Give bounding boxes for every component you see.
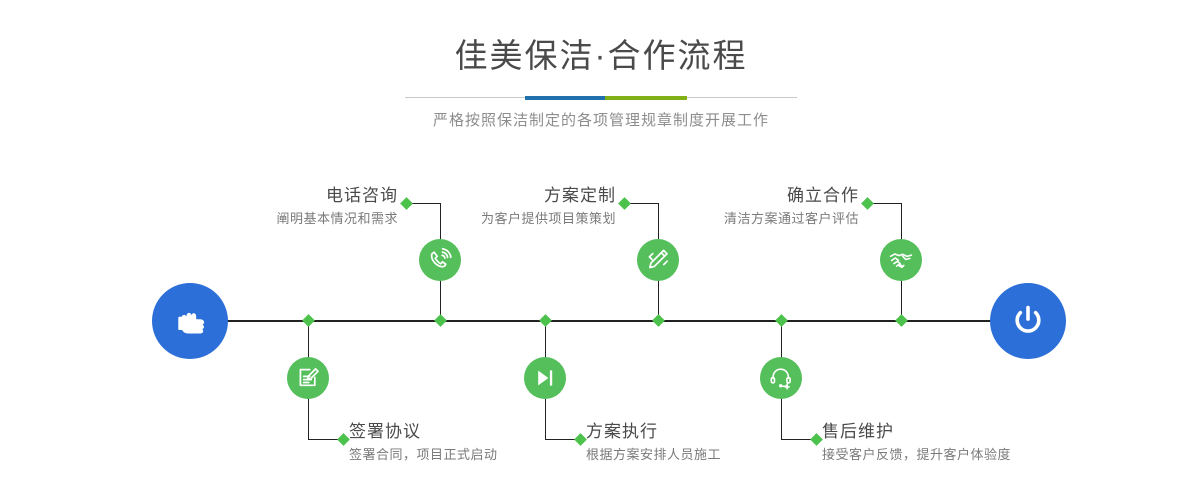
flow-diagram-page: 佳美保洁·合作流程 严格按照保洁制定的各项管理规章制度开展工作 [0,0,1202,502]
step-desc-6: 接受客户反馈，提升客户体验度 [822,444,1182,466]
step-desc-3: 为客户提供项目策策划 [340,208,616,230]
title-divider [405,96,797,100]
connector-diamond-axis-5 [895,314,908,327]
step-label-5: 确立合作 清洁方案通过客户评估 [590,184,859,230]
step-icon-circle-1[interactable] [419,239,461,281]
step-label-6: 售后维护 接受客户反馈，提升客户体验度 [822,420,1182,466]
connector-diamond-axis-6 [775,314,788,327]
divider-segment-blue [525,96,605,100]
step-label-3: 方案定制 为客户提供项目策策划 [340,184,616,230]
power-icon [1005,298,1051,344]
connector-diamond-axis-4 [539,314,552,327]
step-icon-circle-5[interactable] [880,239,922,281]
timeline-end-node[interactable] [990,283,1066,359]
step-icon-circle-2[interactable] [287,357,329,399]
step-title-3: 方案定制 [340,184,616,208]
page-subtitle: 严格按照保洁制定的各项管理规章制度开展工作 [0,110,1202,132]
connector-diamond-axis-2 [302,314,315,327]
step-icon-circle-3[interactable] [637,239,679,281]
pointing-hand-icon [168,299,212,343]
connector-diamond-axis-1 [434,314,447,327]
step-icon-circle-4[interactable] [524,357,566,399]
phone-call-icon [427,247,453,273]
headset-support-icon [768,365,794,391]
step-title-5: 确立合作 [590,184,859,208]
play-execute-icon [532,365,558,391]
connector-diamond-label-2 [337,433,350,446]
handshake-icon [888,247,914,273]
timeline-start-node[interactable] [152,283,228,359]
step-icon-circle-6[interactable] [760,357,802,399]
page-header: 佳美保洁·合作流程 严格按照保洁制定的各项管理规章制度开展工作 [0,34,1202,132]
connector-diamond-label-5 [861,197,874,210]
page-title: 佳美保洁·合作流程 [0,34,1202,78]
document-edit-icon [295,365,321,391]
step-desc-5: 清洁方案通过客户评估 [590,208,859,230]
step-title-6: 售后维护 [822,420,1182,444]
connector-diamond-axis-3 [652,314,665,327]
pencil-design-icon [645,247,671,273]
divider-segment-green [605,96,687,100]
